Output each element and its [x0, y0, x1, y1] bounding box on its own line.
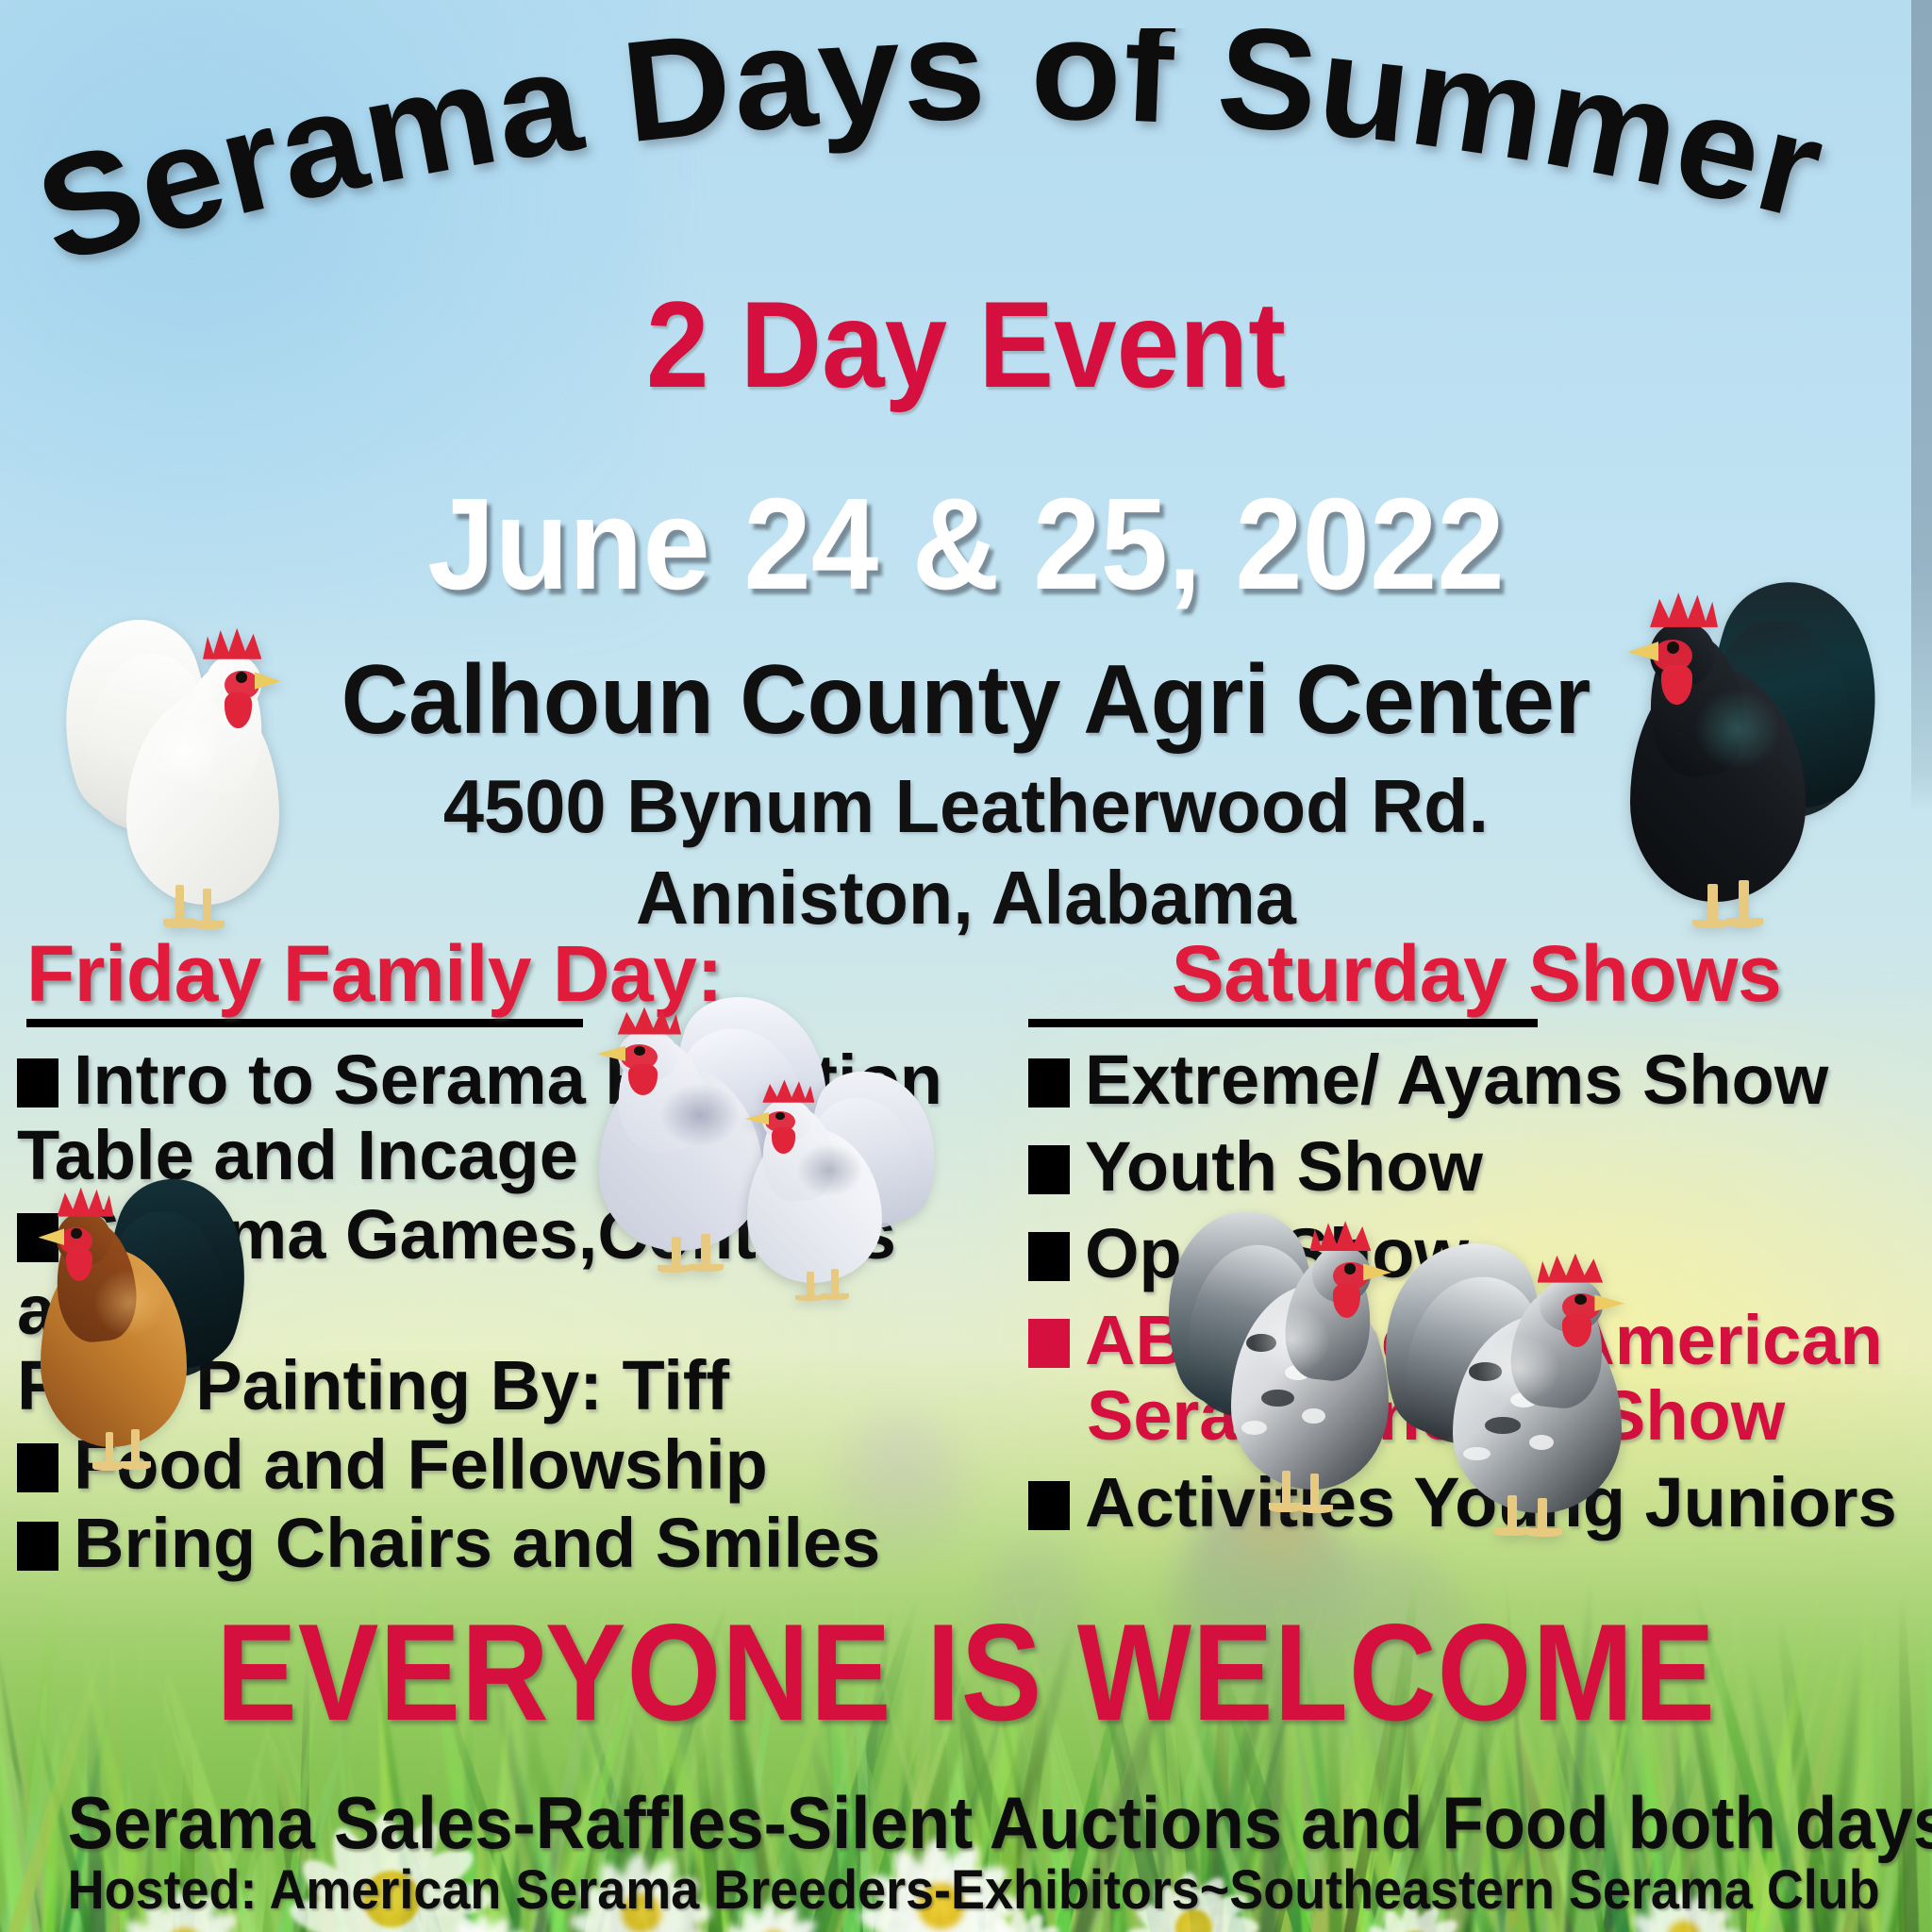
- comb: [203, 624, 261, 658]
- leg: [807, 1272, 814, 1298]
- eye: [634, 1046, 646, 1056]
- list-item-label: Bring Chairs and Smiles: [74, 1504, 880, 1582]
- leg: [131, 1429, 140, 1465]
- feather-sheen: [1254, 1306, 1330, 1374]
- foot: [1692, 920, 1729, 929]
- foot: [1526, 1528, 1562, 1536]
- foot: [1726, 918, 1763, 928]
- eye: [1344, 1263, 1356, 1274]
- leg: [1310, 1474, 1319, 1507]
- comb: [1310, 1217, 1372, 1251]
- leg: [1708, 884, 1719, 924]
- square-bullet-icon: [17, 1522, 58, 1571]
- feather-sheen: [1477, 1336, 1559, 1402]
- list-item: Bring Chairs and Smiles: [17, 1506, 960, 1581]
- feather-sheen: [95, 1270, 166, 1336]
- svg-text:Serama Days of Summer: Serama Days of Summer: [21, 28, 1838, 293]
- eye: [72, 1228, 82, 1239]
- leg: [701, 1234, 710, 1268]
- saturday-heading: Saturday Shows: [1028, 934, 1924, 1013]
- feather-sheen: [149, 715, 223, 786]
- page-title: Serama Days of Summer: [0, 28, 1932, 311]
- square-bullet-icon: [1028, 1145, 1070, 1194]
- leg: [175, 885, 184, 924]
- leg: [1507, 1495, 1517, 1531]
- foot: [193, 921, 225, 929]
- leg: [106, 1432, 114, 1465]
- leg: [203, 889, 211, 924]
- foot: [821, 1293, 849, 1300]
- subtitle-2-day-event: 2 Day Event: [77, 283, 1855, 406]
- eye: [236, 672, 247, 683]
- foot: [1269, 1503, 1302, 1511]
- square-bullet-icon: [17, 1058, 58, 1108]
- foot: [163, 919, 195, 928]
- square-bullet-icon: [1028, 1319, 1070, 1368]
- hosted-by-line: Hosted: American Serama Breeders-Exhibit…: [68, 1863, 1865, 1918]
- white-serama-rooster: [68, 609, 313, 930]
- comb: [618, 1004, 681, 1035]
- foot: [658, 1265, 691, 1273]
- comb: [58, 1183, 114, 1216]
- foot: [1493, 1527, 1529, 1536]
- sales-info-line: Serama Sales-Raffles-Silent Auctions and…: [68, 1786, 1865, 1859]
- list-item: Youth Show: [1028, 1129, 1924, 1205]
- list-item-label: Extreme/ Ayams Show: [1085, 1041, 1828, 1119]
- square-bullet-icon: [1028, 1232, 1070, 1281]
- leg: [1740, 880, 1750, 924]
- black-serama-rooster: [1591, 572, 1874, 930]
- leg: [672, 1237, 681, 1268]
- comb: [1538, 1249, 1604, 1282]
- leg: [1282, 1471, 1291, 1508]
- foot: [795, 1295, 824, 1302]
- foot: [121, 1461, 152, 1470]
- feather-sheen: [797, 1144, 862, 1196]
- eye: [1574, 1294, 1587, 1305]
- square-bullet-icon: [1028, 1058, 1070, 1108]
- welcome-banner: EVERYONE IS WELCOME: [116, 1604, 1816, 1741]
- lavender-serama-hen: [717, 1066, 934, 1302]
- mottled-serama-hen: [1387, 1236, 1660, 1538]
- foot: [1300, 1505, 1333, 1513]
- friday-heading-underline: [26, 1019, 583, 1027]
- saturday-heading-underline: [1028, 1019, 1538, 1027]
- title-textpath: Serama Days of Summer: [21, 28, 1838, 293]
- list-item: Extreme/ Ayams Show: [1028, 1042, 1924, 1118]
- feather-sheen: [1695, 690, 1780, 769]
- brown-serama-rooster: [8, 1170, 243, 1472]
- event-poster: Serama Days of Summer 2 Day Event June 2…: [0, 0, 1932, 1932]
- list-item-label: Youth Show: [1085, 1127, 1483, 1206]
- square-bullet-icon: [1028, 1481, 1070, 1530]
- foot: [92, 1462, 124, 1470]
- comb: [1650, 588, 1718, 627]
- comb: [762, 1076, 814, 1103]
- leg: [1538, 1498, 1547, 1531]
